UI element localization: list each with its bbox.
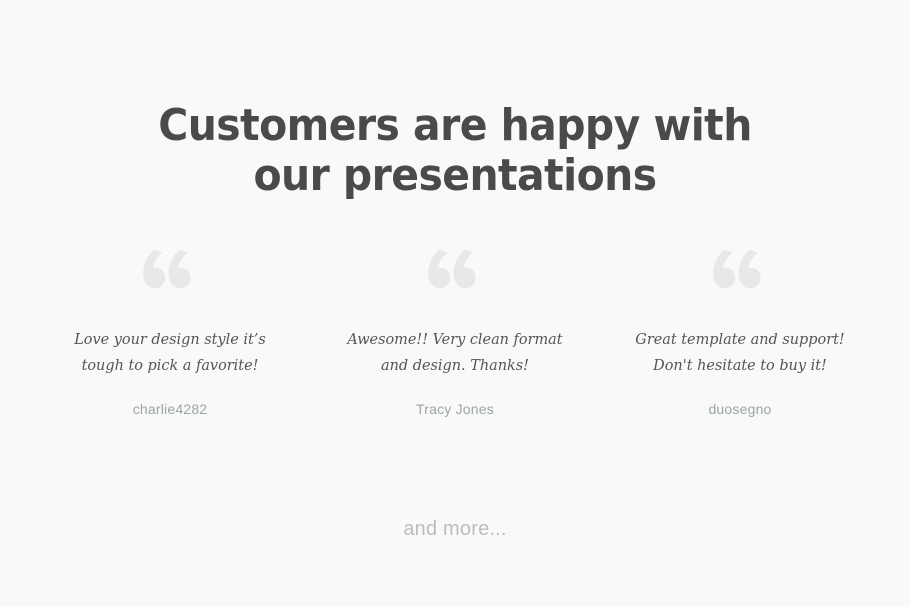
testimonial-quote-line-2: tough to pick a favorite! bbox=[43, 352, 298, 378]
double-quote-open-icon bbox=[142, 248, 198, 296]
testimonial-author: charlie4282 bbox=[36, 400, 304, 418]
testimonial-quote-line-1: Awesome!! Very clean format bbox=[328, 326, 583, 352]
testimonial-quote-line-1: Love your design style it’s bbox=[43, 326, 298, 352]
testimonial-author: duosegno bbox=[606, 400, 874, 418]
testimonial-list: Love your design style it’s tough to pic… bbox=[36, 248, 874, 418]
page-title-line-2: our presentations bbox=[32, 151, 878, 201]
testimonial-author: Tracy Jones bbox=[321, 400, 589, 418]
testimonials-slide: Customers are happy with our presentatio… bbox=[0, 0, 910, 607]
testimonial-quote-line-2: Don't hesitate to buy it! bbox=[613, 352, 868, 378]
testimonial-quote: Awesome!! Very clean format and design. … bbox=[328, 326, 583, 378]
testimonial-quote: Great template and support! Don't hesita… bbox=[613, 326, 868, 378]
page-title: Customers are happy with our presentatio… bbox=[32, 101, 878, 201]
testimonial-quote: Love your design style it’s tough to pic… bbox=[43, 326, 298, 378]
testimonial-quote-line-1: Great template and support! bbox=[613, 326, 868, 352]
testimonial-item: Awesome!! Very clean format and design. … bbox=[321, 248, 589, 418]
double-quote-open-icon bbox=[427, 248, 483, 296]
double-quote-open-icon bbox=[712, 248, 768, 296]
testimonial-item: Love your design style it’s tough to pic… bbox=[36, 248, 304, 418]
page-title-line-1: Customers are happy with bbox=[32, 101, 878, 151]
and-more-label: and more... bbox=[0, 516, 910, 542]
testimonial-item: Great template and support! Don't hesita… bbox=[606, 248, 874, 418]
testimonial-quote-line-2: and design. Thanks! bbox=[328, 352, 583, 378]
